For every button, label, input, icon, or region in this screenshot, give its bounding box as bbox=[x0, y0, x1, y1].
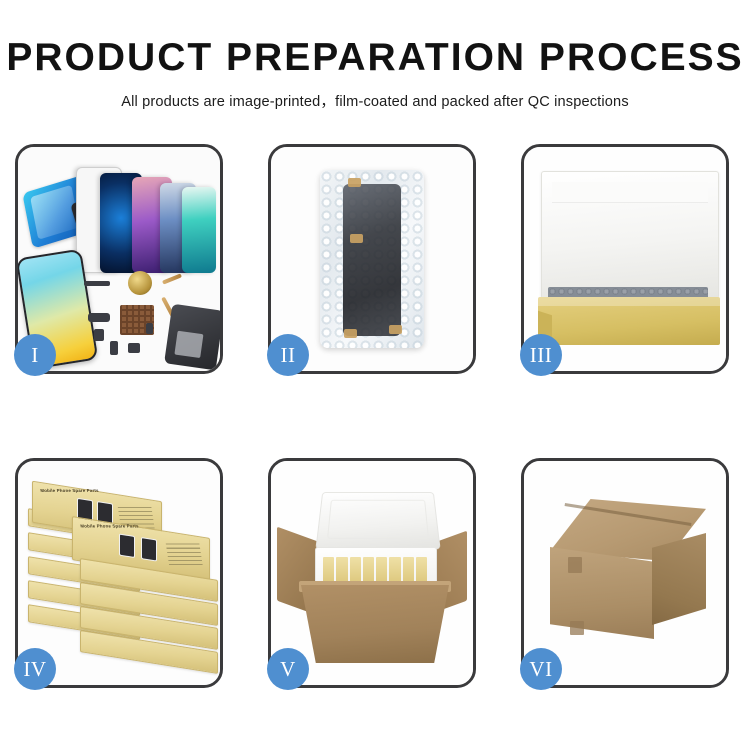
step-badge-2: II bbox=[267, 334, 309, 376]
spare-parts-group bbox=[84, 271, 220, 367]
step-image-4: Mobile Phone Spare Parts Mobile Phone Sp… bbox=[18, 461, 220, 685]
part-strip-icon bbox=[84, 281, 110, 286]
carton-side-face-icon bbox=[652, 533, 706, 625]
step-card-1: I bbox=[15, 144, 223, 374]
tape-icon bbox=[348, 178, 361, 187]
step-card-6: VI bbox=[521, 458, 729, 688]
step-image-2 bbox=[271, 147, 473, 371]
box-label: Mobile Phone Spare Parts bbox=[80, 523, 139, 528]
process-steps-grid: I II III bbox=[15, 144, 735, 688]
phone-fan-group bbox=[76, 163, 216, 273]
coil-part-icon bbox=[128, 271, 152, 295]
step-badge-1: I bbox=[14, 334, 56, 376]
box-label: Mobile Phone Spare Parts bbox=[40, 488, 99, 493]
carton-tape-icon bbox=[570, 621, 584, 635]
box-phone-image-icon bbox=[119, 534, 135, 559]
tape-icon bbox=[350, 234, 363, 243]
step-image-6 bbox=[524, 461, 726, 685]
wrapped-screen-icon bbox=[343, 184, 401, 336]
step-badge-4: IV bbox=[14, 648, 56, 690]
step-badge-5: V bbox=[267, 648, 309, 690]
step-card-4: Mobile Phone Spare Parts Mobile Phone Sp… bbox=[15, 458, 223, 688]
part-speaker-icon bbox=[128, 343, 140, 353]
flex-cable-icon bbox=[162, 273, 182, 284]
product-preparation-infographic: PRODUCT PREPARATION PROCESS All products… bbox=[0, 0, 750, 750]
part-block-icon bbox=[88, 313, 110, 322]
tape-icon bbox=[389, 325, 402, 334]
bubble-wrap-bag-icon bbox=[320, 170, 424, 348]
step-card-2: II bbox=[268, 144, 476, 374]
phone-screen-teal-icon bbox=[182, 187, 216, 273]
tape-icon bbox=[344, 329, 357, 338]
step-image-5 bbox=[271, 461, 473, 685]
part-button-icon bbox=[146, 323, 153, 334]
step-card-3: III bbox=[521, 144, 729, 374]
step-badge-3: III bbox=[520, 334, 562, 376]
page-title: PRODUCT PREPARATION PROCESS bbox=[0, 38, 750, 79]
step-image-1 bbox=[18, 147, 220, 371]
phone-back-shell-icon bbox=[164, 304, 220, 371]
part-sim-icon bbox=[110, 341, 118, 355]
part-small-icon bbox=[94, 329, 104, 341]
styrofoam-lid-icon bbox=[315, 492, 440, 549]
carton-body-icon bbox=[301, 585, 449, 663]
box-text-lines-icon bbox=[165, 541, 202, 565]
yellow-box-base-icon bbox=[538, 297, 720, 345]
step-card-5: V bbox=[268, 458, 476, 688]
step-badge-6: VI bbox=[520, 648, 562, 690]
box-stack-group: Mobile Phone Spare Parts Mobile Phone Sp… bbox=[28, 487, 216, 659]
carton-front-face-icon bbox=[550, 547, 654, 639]
header: PRODUCT PREPARATION PROCESS All products… bbox=[0, 0, 750, 111]
box-phone-image-icon bbox=[141, 537, 157, 562]
step-image-3 bbox=[524, 147, 726, 371]
page-subtitle: All products are image-printed，film-coat… bbox=[0, 90, 750, 111]
carton-tape-icon bbox=[568, 557, 582, 573]
white-foam-lid-icon bbox=[541, 171, 719, 299]
